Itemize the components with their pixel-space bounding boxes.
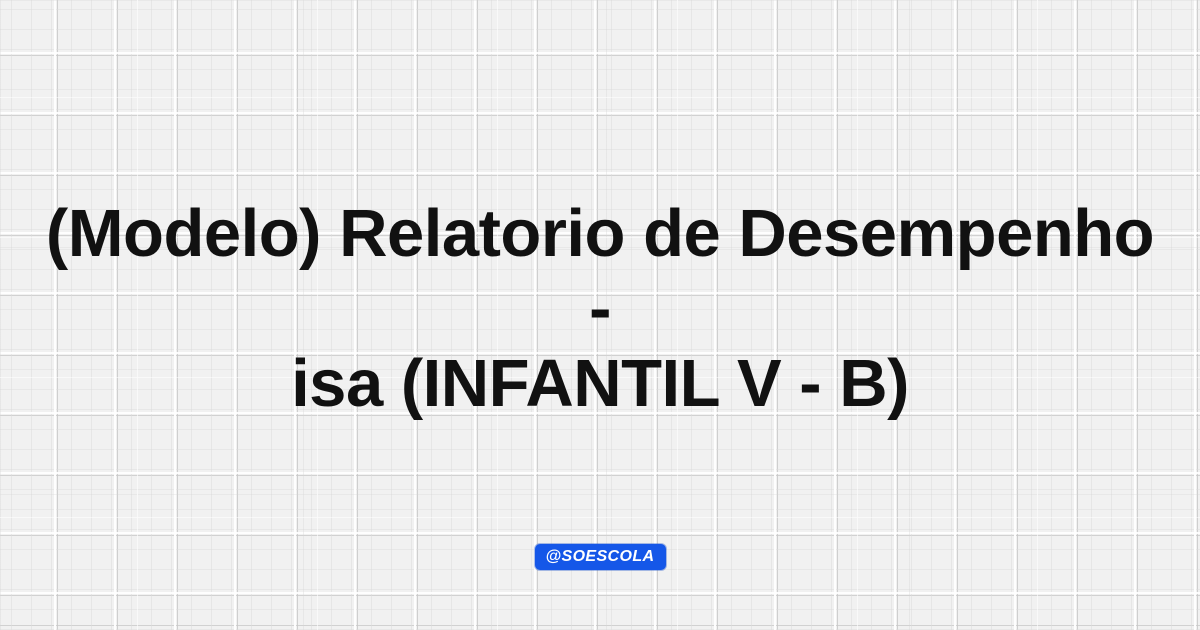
page-title: (Modelo) Relatorio de Desempenho - isa (… [36, 196, 1164, 421]
brand-badge-container: @SOESCOLA [0, 544, 1200, 570]
title-block: (Modelo) Relatorio de Desempenho - isa (… [0, 196, 1200, 421]
brand-badge-soescola[interactable]: @SOESCOLA [535, 544, 666, 570]
share-preview-card: (Modelo) Relatorio de Desempenho - isa (… [0, 0, 1200, 630]
